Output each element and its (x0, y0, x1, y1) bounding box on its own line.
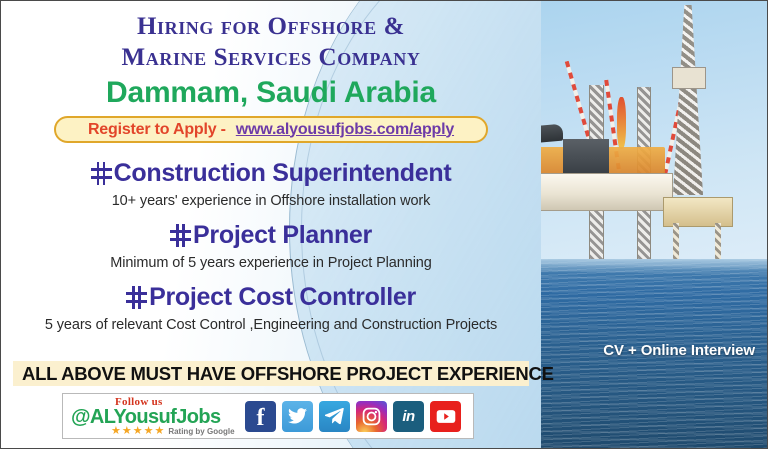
headline-block: Hiring for Offshore & Marine Services Co… (1, 1, 541, 73)
linkedin-icon[interactable]: in (393, 401, 424, 432)
job-title-row: Project Planner (170, 221, 372, 250)
youtube-play-glyph (436, 409, 456, 424)
telegram-plane-glyph (325, 408, 344, 425)
job-requirement-text: 5 years of relevant Cost Control ,Engine… (1, 317, 541, 333)
social-media-card: Follow us @ALYousufJobs ★★★★★ Rating by … (62, 393, 474, 439)
star-rating-icon: ★★★★★ (111, 426, 165, 437)
rating-source-label: Rating by Google (168, 427, 234, 436)
double-cross-bullet-icon (91, 161, 112, 186)
job-title-row: Construction Superintendent (91, 159, 452, 188)
crane-hook (617, 97, 626, 149)
job-requirement-text: Minimum of 5 years experience in Project… (1, 255, 541, 271)
drilling-derrick (673, 5, 703, 195)
job-title-text: Construction Superintendent (114, 159, 452, 188)
deck-module (563, 139, 609, 173)
facebook-glyph: f (257, 406, 265, 430)
instagram-icon[interactable] (356, 401, 387, 432)
twitter-bird-glyph (288, 408, 307, 424)
apply-url-link[interactable]: www.alyousufjobs.com/apply (236, 121, 454, 139)
job-title-text: Project Cost Controller (149, 283, 416, 312)
register-to-apply-banner[interactable]: Register to Apply - www.alyousufjobs.com… (54, 116, 488, 143)
headline-line-1: Hiring for Offshore & (1, 12, 541, 43)
instagram-camera-glyph (362, 407, 381, 426)
cv-online-interview-text: CV + Online Interview (603, 342, 755, 359)
facebook-icon[interactable]: f (245, 401, 276, 432)
job-title-row: Project Cost Controller (126, 283, 416, 312)
job-title-text: Project Planner (193, 221, 372, 250)
offshore-experience-text: ALL ABOVE MUST HAVE OFFSHORE PROJECT EXP… (22, 363, 554, 385)
youtube-icon[interactable] (430, 401, 461, 432)
social-icon-list: f in (245, 401, 461, 432)
double-cross-bullet-icon (126, 285, 147, 310)
headline-line-2: Marine Services Company (1, 43, 541, 74)
double-cross-bullet-icon (170, 223, 191, 248)
job-advertisement-poster: CV + Online Interview Hiring for Offshor… (0, 0, 768, 449)
google-rating-row: ★★★★★ Rating by Google (111, 426, 235, 437)
job-listings: Construction Superintendent 10+ years' e… (1, 159, 541, 333)
twitter-icon[interactable] (282, 401, 313, 432)
register-label: Register to Apply - (88, 121, 226, 139)
job-listing-item: Project Planner Minimum of 5 years exper… (1, 221, 541, 271)
derrick-platform (672, 67, 706, 89)
offshore-experience-banner: ALL ABOVE MUST HAVE OFFSHORE PROJECT EXP… (13, 361, 529, 386)
telegram-icon[interactable] (319, 401, 350, 432)
brand-block: Follow us @ALYousufJobs ★★★★★ Rating by … (69, 394, 241, 438)
location-text: Dammam, Saudi Arabia (1, 76, 541, 110)
job-listing-item: Construction Superintendent 10+ years' e… (1, 159, 541, 209)
linkedin-glyph: in (402, 408, 414, 425)
job-listing-item: Project Cost Controller 5 years of relev… (1, 283, 541, 333)
job-requirement-text: 10+ years' experience in Offshore instal… (1, 193, 541, 209)
